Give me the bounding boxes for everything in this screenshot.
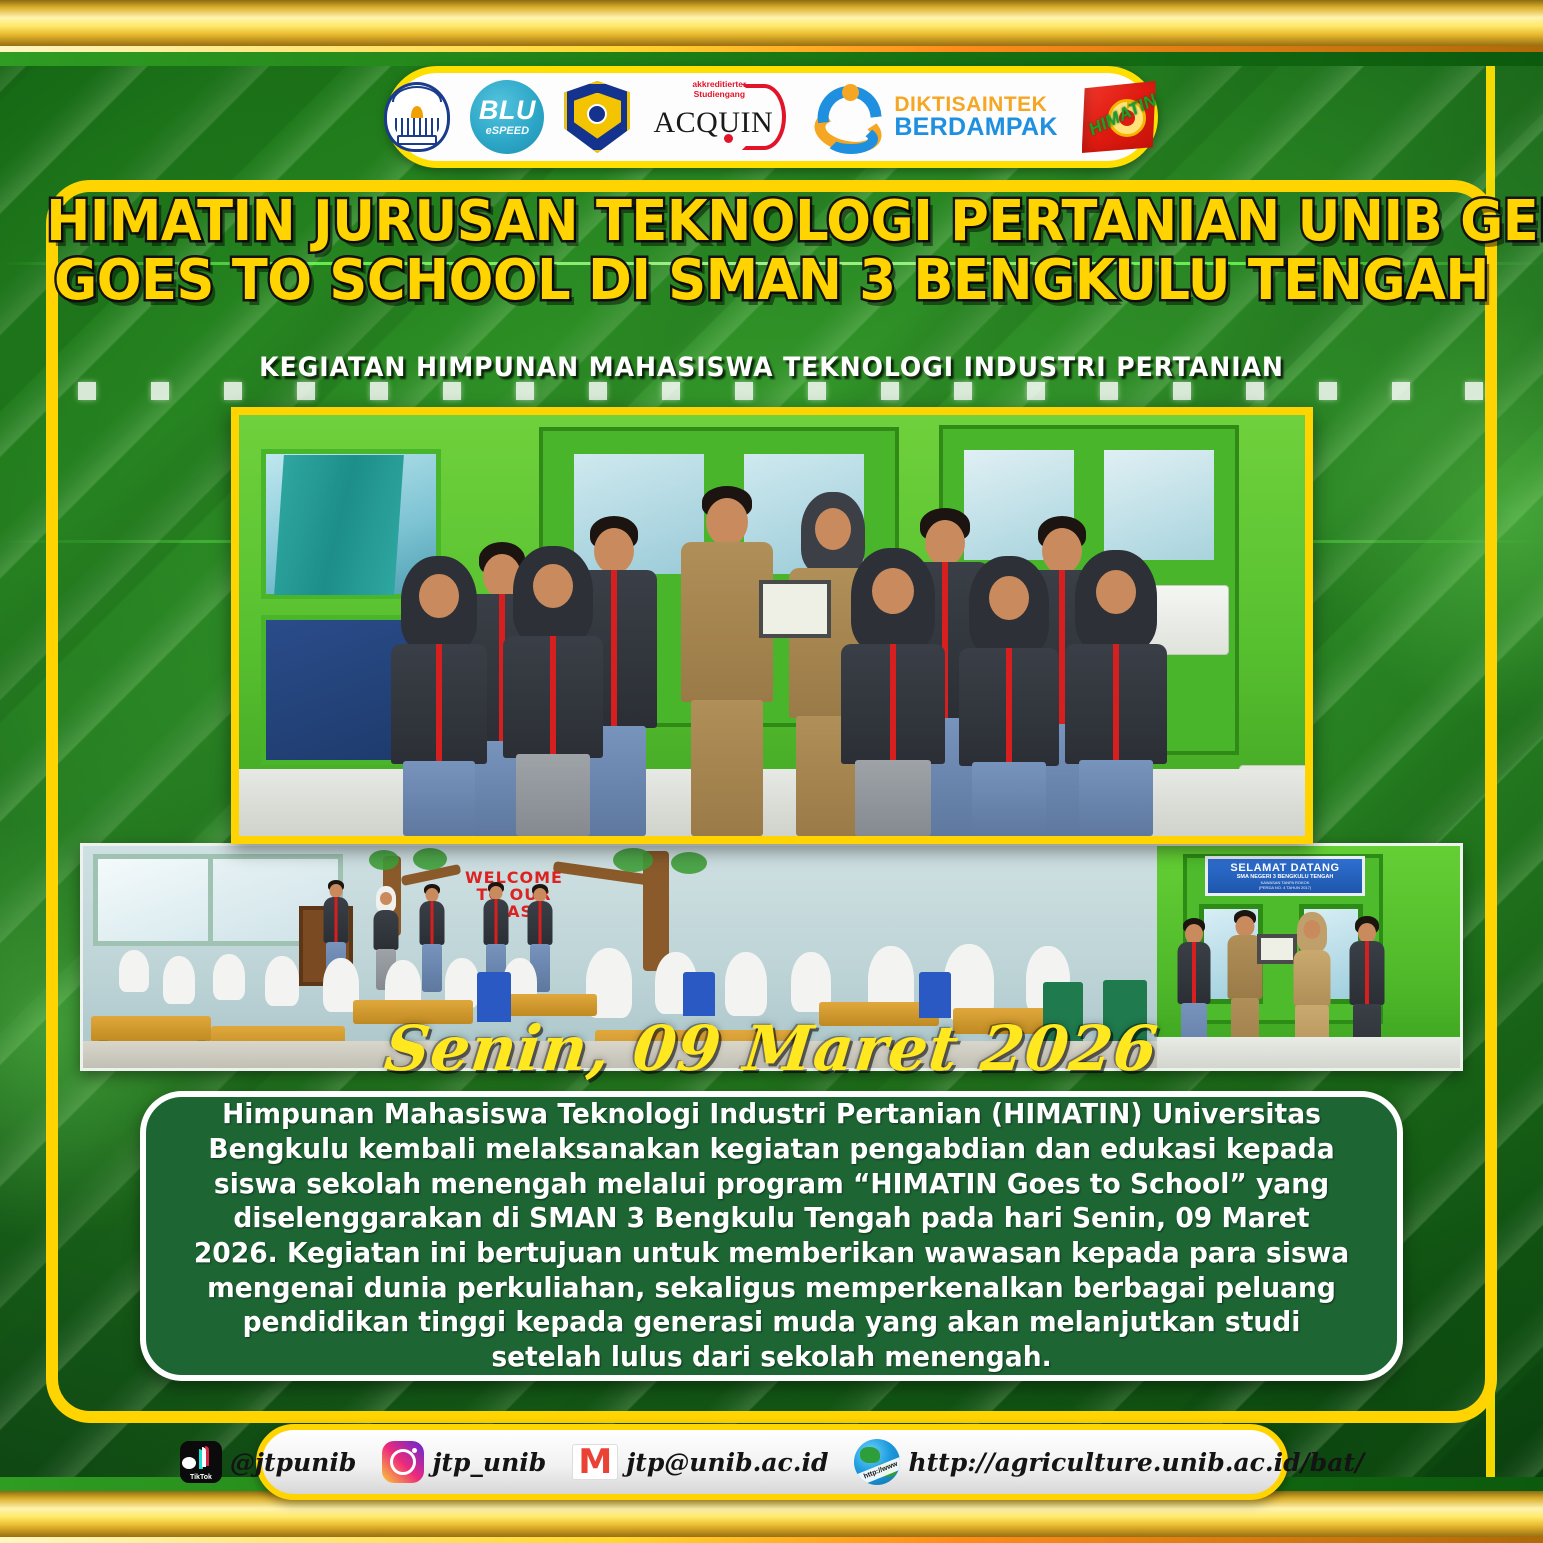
diktisaintek-line1: DIKTISAINTEK bbox=[894, 94, 1057, 115]
footer-item-tiktok[interactable]: TikTok @jtpunib bbox=[180, 1441, 356, 1483]
acquin-small-line1: akkreditierter bbox=[692, 79, 746, 89]
blu-logo: BLU eSPEED bbox=[470, 80, 544, 154]
photo-person bbox=[1063, 550, 1169, 836]
film-strip-dots-decoration bbox=[0, 382, 1543, 400]
website-url: http://agriculture.unib.ac.id/bat/ bbox=[908, 1448, 1364, 1477]
universitas-bengkulu-logo bbox=[564, 81, 630, 153]
gmail-icon: M bbox=[572, 1444, 618, 1480]
green-accent-top bbox=[0, 52, 1543, 66]
sign-line-4: (PERDA NO. 4 TAHUN 2017) bbox=[1259, 885, 1311, 890]
acquin-logo: akkreditierter Studiengang ACQUIN bbox=[650, 78, 792, 156]
sign-line-1: SELAMAT DATANG bbox=[1230, 862, 1339, 874]
student-seated bbox=[117, 950, 151, 1006]
diktisaintek-berdampak-logo: DIKTISAINTEK BERDAMPAK bbox=[812, 80, 1057, 154]
title-line-1: HIMATIN JURUSAN TEKNOLOGI PERTANIAN UNIB… bbox=[46, 192, 1496, 251]
student-seated bbox=[211, 954, 247, 1014]
main-group-photo bbox=[231, 407, 1313, 844]
photo-certificate bbox=[759, 580, 831, 638]
poster-root: BLU eSPEED akkreditierter Studiengang AC… bbox=[0, 0, 1543, 1543]
acquin-small-line2: Studiengang bbox=[694, 89, 745, 99]
diktisaintek-mark-icon bbox=[812, 80, 884, 154]
contact-footer-bar: TikTok @jtpunib jtp_unib M jtp@unib.ac.i… bbox=[256, 1424, 1288, 1500]
instagram-handle: jtp_unib bbox=[432, 1448, 546, 1477]
event-date: Senin, 09 Maret 2026 bbox=[0, 1012, 1543, 1085]
photo-person bbox=[839, 548, 947, 836]
footer-item-email[interactable]: M jtp@unib.ac.id bbox=[572, 1444, 828, 1480]
school-welcome-sign: SELAMAT DATANG SMA NEGERI 3 BENGKULU TEN… bbox=[1205, 856, 1365, 896]
photo-person-teacher bbox=[679, 486, 775, 836]
page-title: HIMATIN JURUSAN TEKNOLOGI PERTANIAN UNIB… bbox=[0, 192, 1543, 311]
himatin-logo: HIMATIN bbox=[1078, 77, 1160, 157]
gold-bar-top bbox=[0, 0, 1543, 52]
logo-bar: BLU eSPEED akkreditierter Studiengang AC… bbox=[386, 66, 1158, 168]
photo-person bbox=[389, 556, 489, 836]
tiktok-icon: TikTok bbox=[180, 1441, 222, 1483]
description-box: Himpunan Mahasiswa Teknologi Industri Pe… bbox=[140, 1091, 1403, 1381]
page-subtitle: KEGIATAN HIMPUNAN MAHASISWA TEKNOLOGI IN… bbox=[54, 352, 1489, 383]
tut-wuri-handayani-logo bbox=[384, 82, 450, 152]
footer-item-website[interactable]: http://www http://agriculture.unib.ac.id… bbox=[854, 1439, 1364, 1485]
email-address: jtp@unib.ac.id bbox=[626, 1448, 828, 1477]
photo-certificate bbox=[1257, 934, 1297, 964]
diktisaintek-line2: BERDAMPAK bbox=[894, 115, 1057, 141]
photo-person bbox=[501, 546, 605, 836]
blu-logo-line1: BLU bbox=[479, 97, 536, 124]
footer-item-instagram[interactable]: jtp_unib bbox=[382, 1441, 546, 1483]
globe-icon: http://www bbox=[854, 1439, 900, 1485]
instagram-icon bbox=[382, 1441, 424, 1483]
description-text: Himpunan Mahasiswa Teknologi Industri Pe… bbox=[193, 1097, 1350, 1374]
photo-person bbox=[957, 556, 1061, 836]
title-line-2: GOES TO SCHOOL DI SMAN 3 BENGKULU TENGAH bbox=[46, 251, 1496, 310]
tiktok-handle: @jtpunib bbox=[230, 1448, 356, 1477]
blu-logo-line2: eSPEED bbox=[486, 126, 529, 137]
student-seated bbox=[161, 956, 197, 1018]
